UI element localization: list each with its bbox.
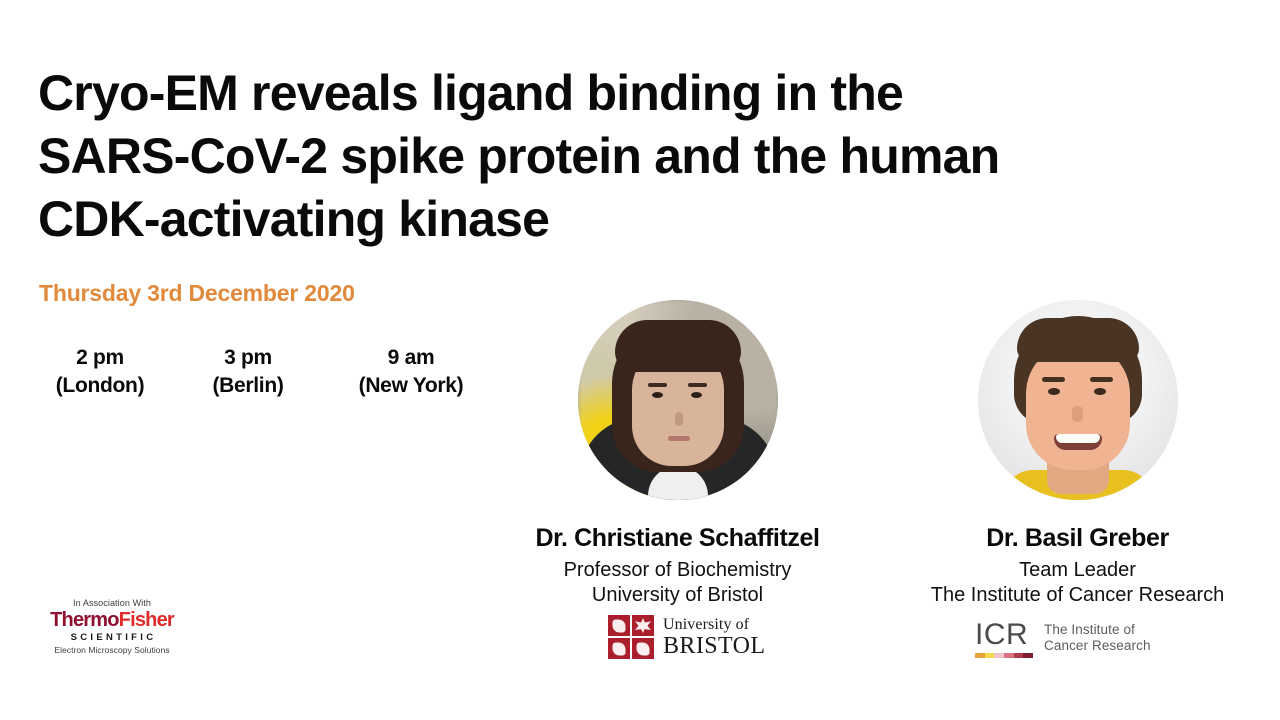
portrait-eye-right xyxy=(1094,388,1106,395)
portrait-eyebrow-left xyxy=(1042,377,1065,382)
title-line-1: Cryo-EM reveals ligand binding in the xyxy=(38,62,1262,125)
speaker-avatar-christiane-schaffitzel xyxy=(578,300,778,500)
time-value-berlin: 3 pm xyxy=(224,346,272,369)
icr-bar-segment-4 xyxy=(1014,653,1024,658)
icr-bar-segment-3 xyxy=(1004,653,1014,658)
in-association-with-label: In Association With xyxy=(36,598,188,608)
speaker-organisation: The Institute of Cancer Research xyxy=(931,583,1224,608)
time-block-london: 2 pm (London) xyxy=(30,344,170,400)
portrait-nose xyxy=(675,412,683,426)
portrait-eye-right xyxy=(691,392,702,398)
speaker-avatar-basil-greber xyxy=(978,300,1178,500)
portrait-fringe xyxy=(1017,318,1139,362)
time-value-new-york: 9 am xyxy=(388,346,435,369)
icr-letters: ICR xyxy=(975,620,1033,650)
bristol-crest-icon xyxy=(608,615,654,659)
fisher-word: Fisher xyxy=(119,609,174,631)
portrait-mouth xyxy=(668,436,690,441)
crest-quadrant-sun xyxy=(632,615,654,636)
thermo-word: Thermo xyxy=(50,609,119,631)
portrait-teeth xyxy=(1056,434,1100,443)
icr-wordmark: The Institute of Cancer Research xyxy=(1044,622,1151,654)
portrait-nose xyxy=(1072,406,1083,422)
portrait-eyebrow-left xyxy=(648,383,667,387)
title-line-3: CDK-activating kinase xyxy=(38,188,1262,251)
speaker-organisation: University of Bristol xyxy=(592,583,763,608)
speaker-role: Team Leader xyxy=(1019,558,1136,583)
speaker-name: Dr. Basil Greber xyxy=(986,524,1169,553)
crest-quadrant-dolphin xyxy=(608,638,630,659)
portrait-fringe xyxy=(615,320,741,372)
portrait-mouth xyxy=(1054,434,1102,450)
speakers-section: Dr. Christiane Schaffitzel Professor of … xyxy=(470,300,1270,608)
icr-line-1: The Institute of xyxy=(1044,622,1151,638)
speaker-role: Professor of Biochemistry xyxy=(564,558,792,583)
thermo-fisher-logo: In Association With ThermoFisher SCIENTI… xyxy=(36,598,188,656)
speaker-name: Dr. Christiane Schaffitzel xyxy=(535,524,819,553)
time-city-berlin: (Berlin) xyxy=(178,372,318,400)
event-times: 2 pm (London) 3 pm (Berlin) 9 am (New Yo… xyxy=(30,344,496,400)
portrait-eyebrow-right xyxy=(688,383,707,387)
portrait-eye-left xyxy=(1048,388,1060,395)
event-date: Thursday 3rd December 2020 xyxy=(39,280,355,307)
scientific-wordmark: SCIENTIFIC xyxy=(36,631,188,644)
speaker-basil-greber: Dr. Basil Greber Team Leader The Institu… xyxy=(885,300,1270,608)
icr-line-2: Cancer Research xyxy=(1044,638,1151,654)
icr-logo: ICR The Institute of Cancer Research xyxy=(975,620,1151,658)
bristol-line-2: BRISTOL xyxy=(663,634,765,658)
icr-color-bar xyxy=(975,653,1033,658)
icr-bar-segment-1 xyxy=(985,653,995,658)
icr-bar-segment-0 xyxy=(975,653,985,658)
title-line-2: SARS-CoV-2 spike protein and the human xyxy=(38,125,1262,188)
thermo-fisher-wordmark: ThermoFisher xyxy=(36,610,188,631)
crest-quadrant-ship xyxy=(608,615,630,636)
speaker-christiane-schaffitzel: Dr. Christiane Schaffitzel Professor of … xyxy=(470,300,885,608)
thermo-tagline: Electron Microscopy Solutions xyxy=(36,644,188,656)
portrait-eye-left xyxy=(652,392,663,398)
icr-bar-segment-2 xyxy=(994,653,1004,658)
page-title: Cryo-EM reveals ligand binding in the SA… xyxy=(38,62,1262,251)
icr-bar-segment-5 xyxy=(1023,653,1033,658)
time-value-london: 2 pm xyxy=(76,346,124,369)
crest-quadrant-horse xyxy=(632,638,654,659)
bristol-wordmark: University of BRISTOL xyxy=(663,617,765,658)
time-city-london: (London) xyxy=(30,372,170,400)
portrait-eyebrow-right xyxy=(1090,377,1113,382)
bristol-line-1: University of xyxy=(663,617,765,633)
university-of-bristol-logo: University of BRISTOL xyxy=(608,615,765,659)
icr-mark: ICR xyxy=(975,620,1033,658)
time-block-berlin: 3 pm (Berlin) xyxy=(178,344,318,400)
